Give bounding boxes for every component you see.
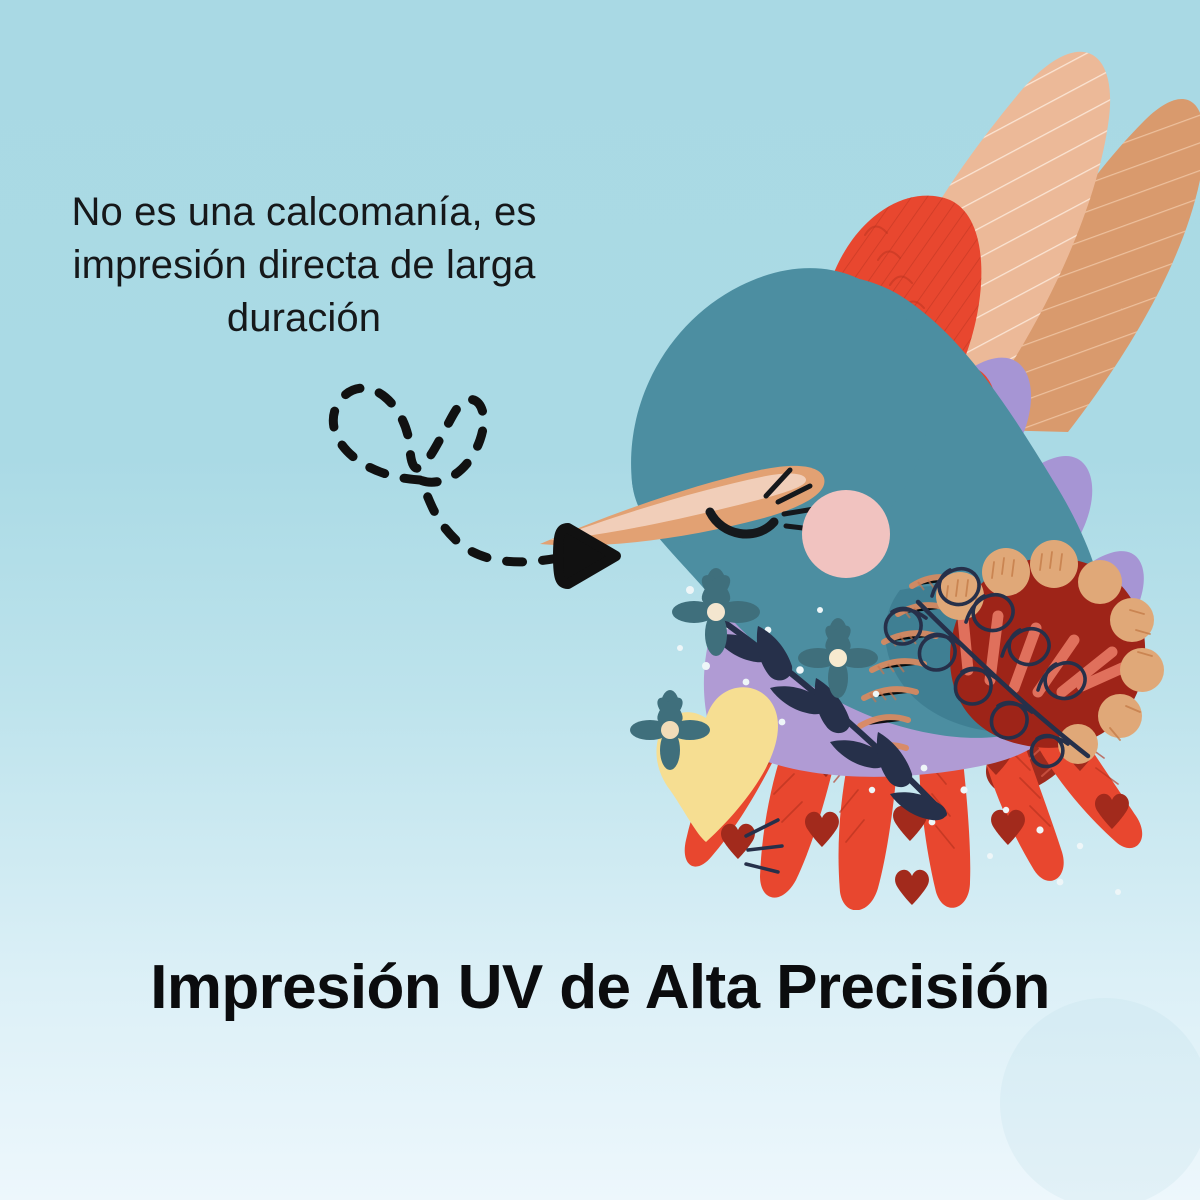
dashed-loop-arrow (280, 370, 640, 600)
poster-canvas: No es una calcomanía, es impresión direc… (0, 0, 1200, 1200)
faint-circle-watermark (1000, 998, 1200, 1200)
arrowhead-icon (558, 528, 616, 584)
headline-text: Impresión UV de Alta Precisión (0, 952, 1200, 1023)
cheek-blush (802, 490, 890, 578)
tagline-text: No es una calcomanía, es impresión direc… (18, 186, 590, 346)
flight-path-line (333, 388, 570, 562)
